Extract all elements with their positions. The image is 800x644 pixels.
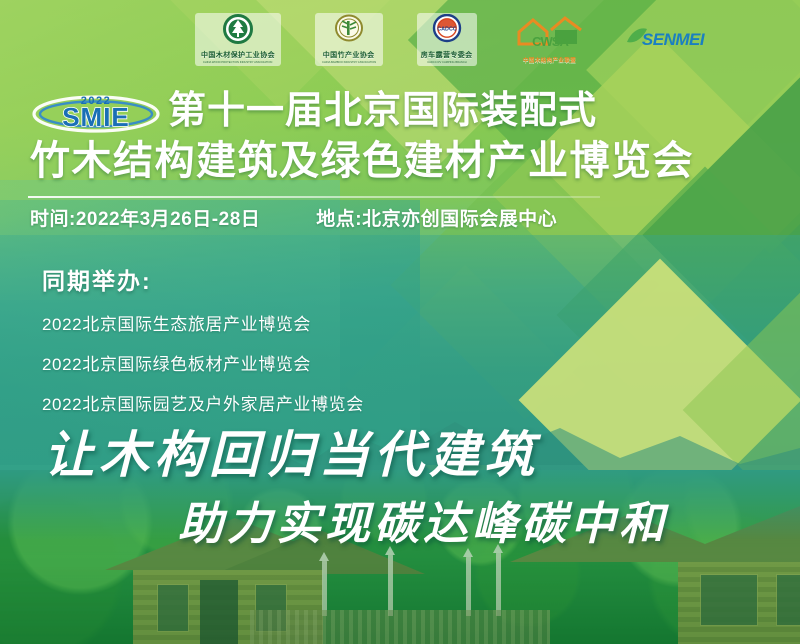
sponsor-logo-row: 中国木材保护工业协会 CHINA WOOD PROTECTION INDUSTR… <box>0 8 800 70</box>
svg-text:CADCC: CADCC <box>437 26 457 32</box>
logo-cwsa[interactable]: CWSA 中国木结构产业联盟 <box>511 14 589 64</box>
logo-label-cn: 中国木材保护工业协会 <box>201 50 275 60</box>
house-roof-icon: CWSA <box>511 14 589 55</box>
headline-block: 2022 SMIE 第十一届北京国际装配式 竹木结构建筑及绿色建材产业博览会 <box>0 88 800 182</box>
logo-label-cn: 房车露营专委会 <box>421 50 473 60</box>
slogan-line2: 助力实现碳达峰碳中和 <box>178 487 668 552</box>
concurrent-event-item: 2022北京国际生态旅居产业博览会 <box>42 310 364 335</box>
logo-label-cn: 中国木结构产业联盟 <box>523 56 576 64</box>
leaf-sprout-icon: SENMEI <box>623 22 715 57</box>
event-meta-row: 时间:2022年3月26日-28日 地点:北京亦创国际会展中心 <box>30 204 557 231</box>
svg-text:SMIE: SMIE <box>62 102 130 132</box>
pine-tree-in-circle-icon <box>220 14 256 49</box>
svg-text:CWSA: CWSA <box>532 34 569 49</box>
event-date: 时间:2022年3月26日-28日 <box>30 204 260 231</box>
logo-cadcc-rv-camping[interactable]: CADCC 房车露营专委会 CADCC RV CAMPING BRANCH <box>417 13 477 66</box>
logo-label-en: CHINA BAMBOO INDUSTRY ASSOCIATION <box>322 60 376 64</box>
concurrent-events-title: 同期举办: <box>42 262 364 296</box>
headline-line1: 第十一届北京国际装配式 <box>168 92 597 130</box>
logo-label-en: CHINA WOOD PROTECTION INDUSTRY ASSOCIATI… <box>203 60 272 64</box>
bamboo-in-oval-icon <box>332 14 366 49</box>
headline-line2: 竹木结构建筑及绿色建材产业博览会 <box>0 140 800 182</box>
logo-china-bamboo[interactable]: 中国竹产业协会 CHINA BAMBOO INDUSTRY ASSOCIATIO… <box>315 13 383 66</box>
smie-oval-logo: 2022 SMIE <box>30 88 162 134</box>
headline-divider <box>28 196 600 198</box>
concurrent-events-block: 同期举办: 2022北京国际生态旅居产业博览会 2022北京国际绿色板材产业博览… <box>42 262 364 430</box>
logo-label-cn: 中国竹产业协会 <box>323 50 375 60</box>
cadcc-seal-icon: CADCC <box>430 14 464 49</box>
headline-line1-row: 2022 SMIE 第十一届北京国际装配式 <box>0 88 800 134</box>
logo-china-wood-protection[interactable]: 中国木材保护工业协会 CHINA WOOD PROTECTION INDUSTR… <box>195 13 280 66</box>
concurrent-event-item: 2022北京国际园艺及户外家居产业博览会 <box>42 390 364 415</box>
slogan-line1: 让木构回归当代建筑 <box>44 415 539 487</box>
logo-label-en: CADCC RV CAMPING BRANCH <box>427 60 467 64</box>
logo-senmei[interactable]: SENMEI <box>623 22 715 57</box>
exhibition-poster: 中国木材保护工业协会 CHINA WOOD PROTECTION INDUSTR… <box>0 0 800 644</box>
concurrent-event-item: 2022北京国际绿色板材产业博览会 <box>42 350 364 375</box>
event-venue: 地点:北京亦创国际会展中心 <box>316 204 557 231</box>
svg-text:SENMEI: SENMEI <box>642 30 706 49</box>
